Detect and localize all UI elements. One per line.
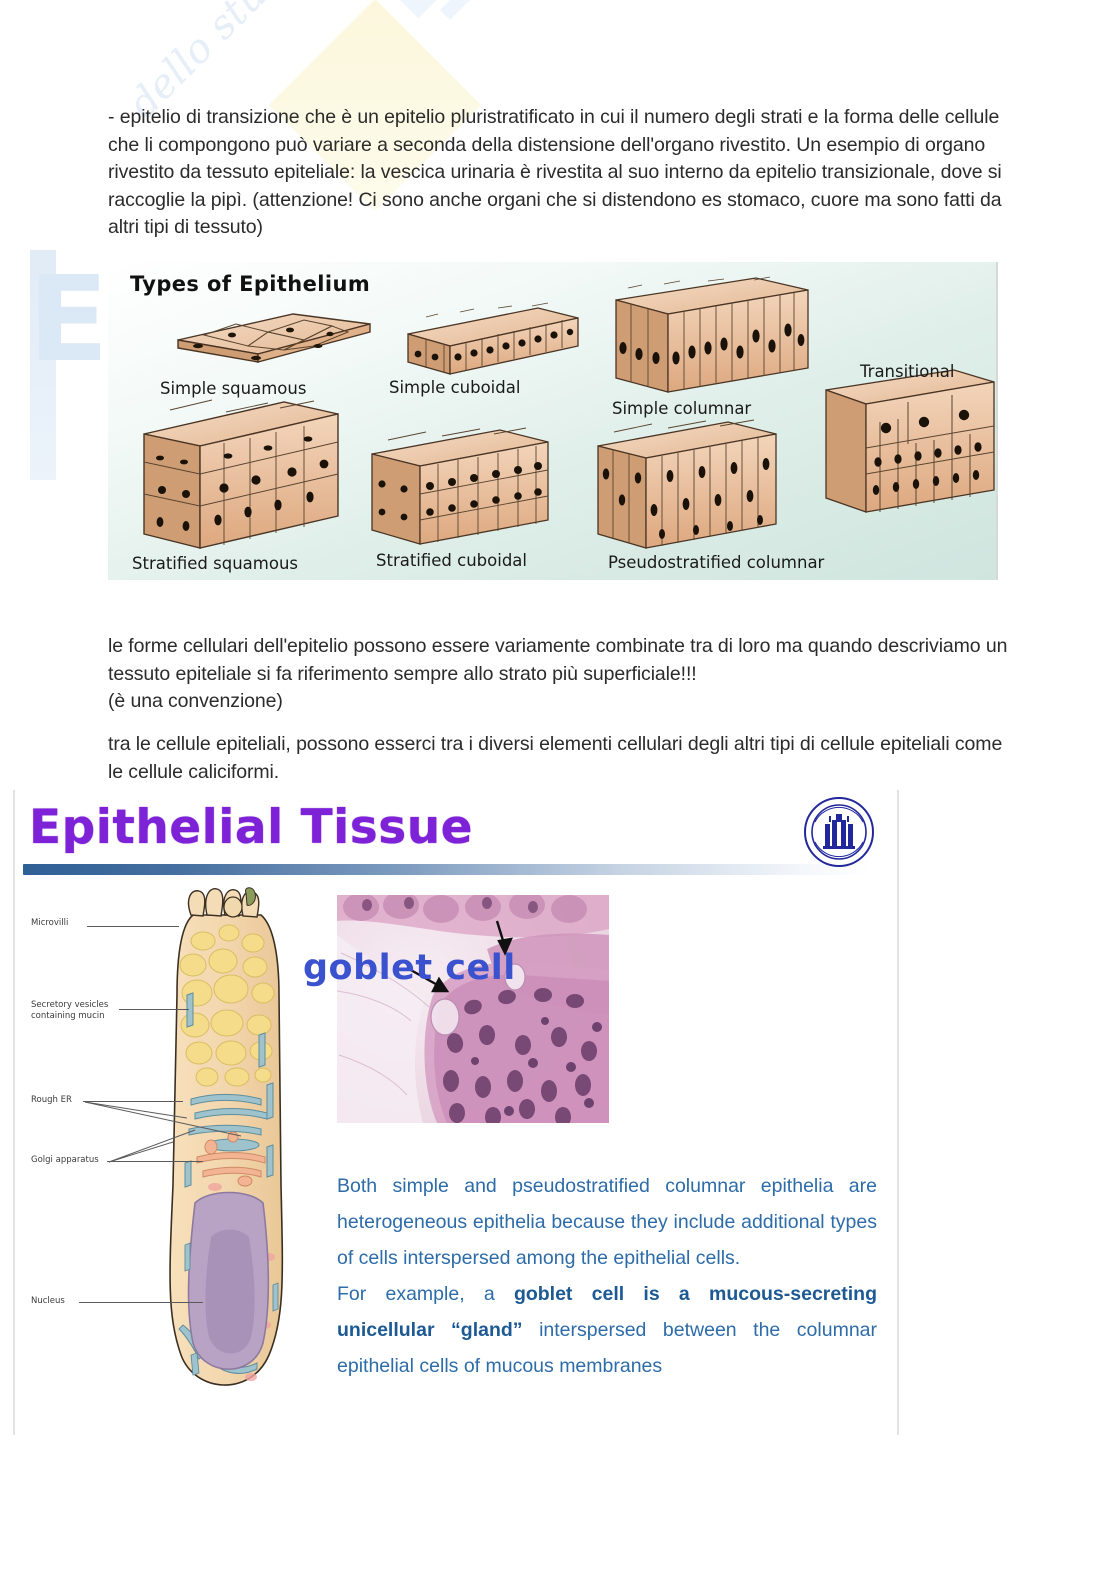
- slide-accent-bar: [23, 864, 871, 875]
- watermark-band: [30, 250, 56, 480]
- paragraph-cell-forms: le forme cellulari dell'epitelio possono…: [108, 633, 1014, 716]
- label-rough-er: Rough ER: [31, 1095, 72, 1106]
- label-nucleus: Nucleus: [31, 1296, 65, 1307]
- goblet-cell-handwritten-label: goblet cell: [303, 948, 516, 988]
- watermark-stripe: [440, 0, 846, 20]
- leader-secretory-vesicles: [119, 1009, 189, 1010]
- epithelium-label: Pseudostratified columnar: [608, 553, 824, 572]
- epithelium-illustrations: [108, 262, 996, 580]
- leader-microvilli: [87, 926, 179, 927]
- label-microvilli: Microvilli: [31, 918, 68, 929]
- watermark-stripe: [400, 0, 857, 18]
- slide-title: Epithelial Tissue: [29, 800, 473, 855]
- figure-types-of-epithelium: Types of Epithelium: [108, 262, 998, 580]
- epithelium-label: Simple columnar: [612, 399, 751, 418]
- epithelium-label: Stratified squamous: [132, 554, 298, 573]
- label-secretory-vesicles: Secretory vesicles containing mucin: [31, 1000, 108, 1022]
- leader-branch-lines: [75, 1080, 275, 1180]
- histology-micrograph: [337, 895, 609, 1123]
- label-golgi-apparatus: Golgi apparatus: [31, 1155, 99, 1166]
- paragraph-transitional-epithelium: - epitelio di transizione che è un epite…: [108, 104, 1014, 242]
- slide-body-part2-pre: For example, a: [337, 1283, 514, 1305]
- slide-epithelial-tissue: Epithelial Tissue: [13, 790, 899, 1435]
- epithelium-label: Simple cuboidal: [389, 378, 520, 397]
- epithelium-label: Simple squamous: [160, 379, 306, 398]
- university-seal-icon: [803, 796, 875, 868]
- epithelium-label: Transitional: [860, 362, 955, 381]
- paragraph-goblet-intro: tra le cellule epiteliali, possono esser…: [108, 731, 1014, 786]
- slide-body-part1: Both simple and pseudostratified columna…: [337, 1175, 877, 1269]
- epithelium-label: Stratified cuboidal: [376, 551, 527, 570]
- leader-nucleus: [79, 1302, 203, 1303]
- slide-body-text: Both simple and pseudostratified columna…: [337, 1168, 877, 1384]
